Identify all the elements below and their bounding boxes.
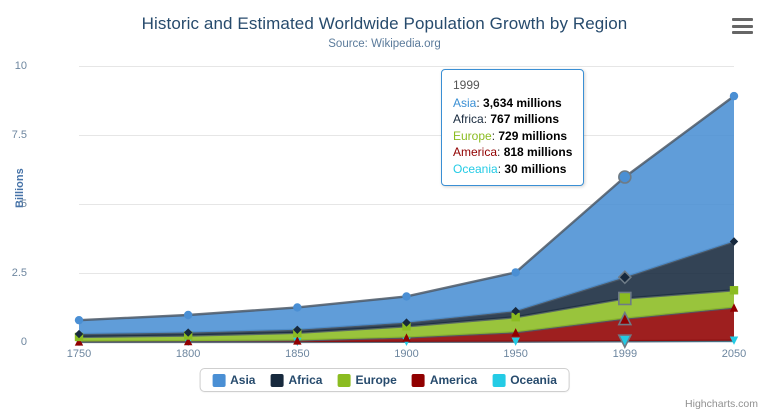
- tooltip-series-name: Europe: [453, 129, 492, 143]
- series-markers: [79, 66, 734, 342]
- x-axis-tick-label: 1800: [176, 348, 200, 360]
- legend-label: Africa: [288, 373, 322, 387]
- tooltip-series-value: 30 millions: [504, 162, 566, 176]
- marker-asia[interactable]: [511, 268, 519, 276]
- x-axis-tick-label: 1950: [503, 348, 527, 360]
- tooltip-row: Oceania: 30 millions: [453, 161, 572, 178]
- tooltip-series-name: Oceania: [453, 162, 498, 176]
- marker-america[interactable]: [293, 336, 301, 344]
- legend-label: Europe: [355, 373, 396, 387]
- x-axis-tick-label: 1999: [613, 348, 637, 360]
- marker-africa[interactable]: [730, 237, 738, 245]
- tooltip-series-name: Asia: [453, 96, 476, 110]
- tooltip-header: 1999: [453, 77, 572, 95]
- legend-swatch-icon: [337, 374, 350, 387]
- tooltip: 1999 Asia: 3,634 millionsAfrica: 767 mil…: [441, 69, 584, 186]
- marker-asia[interactable]: [75, 316, 83, 324]
- tooltip-row: Africa: 767 millions: [453, 111, 572, 128]
- marker-africa[interactable]: [619, 271, 631, 283]
- marker-oceania[interactable]: [619, 335, 631, 347]
- legend-swatch-icon: [270, 374, 283, 387]
- marker-america[interactable]: [730, 303, 738, 311]
- y-axis-tick-label: 7.5: [0, 129, 27, 141]
- legend-item-asia[interactable]: Asia: [212, 373, 255, 387]
- tooltip-series-value: 767 millions: [490, 112, 559, 126]
- legend-item-africa[interactable]: Africa: [270, 373, 322, 387]
- tooltip-row: America: 818 millions: [453, 144, 572, 161]
- marker-asia[interactable]: [619, 171, 631, 183]
- tooltip-series-value: 3,634 millions: [483, 96, 562, 110]
- marker-europe[interactable]: [730, 286, 738, 294]
- legend-swatch-icon: [492, 374, 505, 387]
- marker-america[interactable]: [402, 333, 410, 341]
- marker-oceania[interactable]: [511, 337, 519, 345]
- marker-america[interactable]: [619, 313, 631, 325]
- legend-label: Oceania: [510, 373, 557, 387]
- y-axis-tick-label: 2.5: [0, 267, 27, 279]
- chart-subtitle: Source: Wikipedia.org: [0, 38, 769, 50]
- chart-title: Historic and Estimated Worldwide Populat…: [0, 14, 769, 34]
- marker-oceania[interactable]: [730, 337, 738, 345]
- credits-link[interactable]: Highcharts.com: [685, 398, 758, 410]
- legend-item-europe[interactable]: Europe: [337, 373, 396, 387]
- marker-asia[interactable]: [184, 311, 192, 319]
- marker-asia[interactable]: [730, 92, 738, 100]
- tooltip-series-name: America: [453, 145, 497, 159]
- marker-america[interactable]: [511, 328, 519, 336]
- x-axis-tick-label: 1900: [394, 348, 418, 360]
- x-axis-tick-label: 2050: [722, 348, 746, 360]
- tooltip-row: Europe: 729 millions: [453, 128, 572, 145]
- legend-label: Asia: [230, 373, 255, 387]
- tooltip-series-value: 818 millions: [504, 145, 573, 159]
- marker-asia[interactable]: [293, 303, 301, 311]
- legend-item-america[interactable]: America: [412, 373, 477, 387]
- y-axis-tick-label: 5: [0, 198, 27, 210]
- x-axis-tick-label: 1750: [67, 348, 91, 360]
- y-axis-tick-label: 10: [0, 60, 27, 72]
- tooltip-separator: :: [497, 145, 504, 159]
- highcharts-container: Historic and Estimated Worldwide Populat…: [0, 0, 769, 416]
- legend-label: America: [430, 373, 477, 387]
- tooltip-separator: :: [476, 96, 483, 110]
- marker-asia[interactable]: [402, 292, 410, 300]
- y-axis-tick-label: 0: [0, 336, 27, 348]
- legend-swatch-icon: [212, 374, 225, 387]
- legend-item-oceania[interactable]: Oceania: [492, 373, 557, 387]
- legend: Asia Africa Europe America Oceania: [199, 368, 570, 392]
- tooltip-series-value: 729 millions: [498, 129, 567, 143]
- tooltip-series-name: Africa: [453, 112, 484, 126]
- legend-swatch-icon: [412, 374, 425, 387]
- plot-area: [79, 66, 734, 342]
- x-axis-tick-label: 1850: [285, 348, 309, 360]
- tooltip-rows: Asia: 3,634 millionsAfrica: 767 millions…: [453, 95, 572, 178]
- tooltip-row: Asia: 3,634 millions: [453, 95, 572, 112]
- marker-europe[interactable]: [619, 292, 631, 304]
- hamburger-menu-icon[interactable]: [732, 18, 753, 34]
